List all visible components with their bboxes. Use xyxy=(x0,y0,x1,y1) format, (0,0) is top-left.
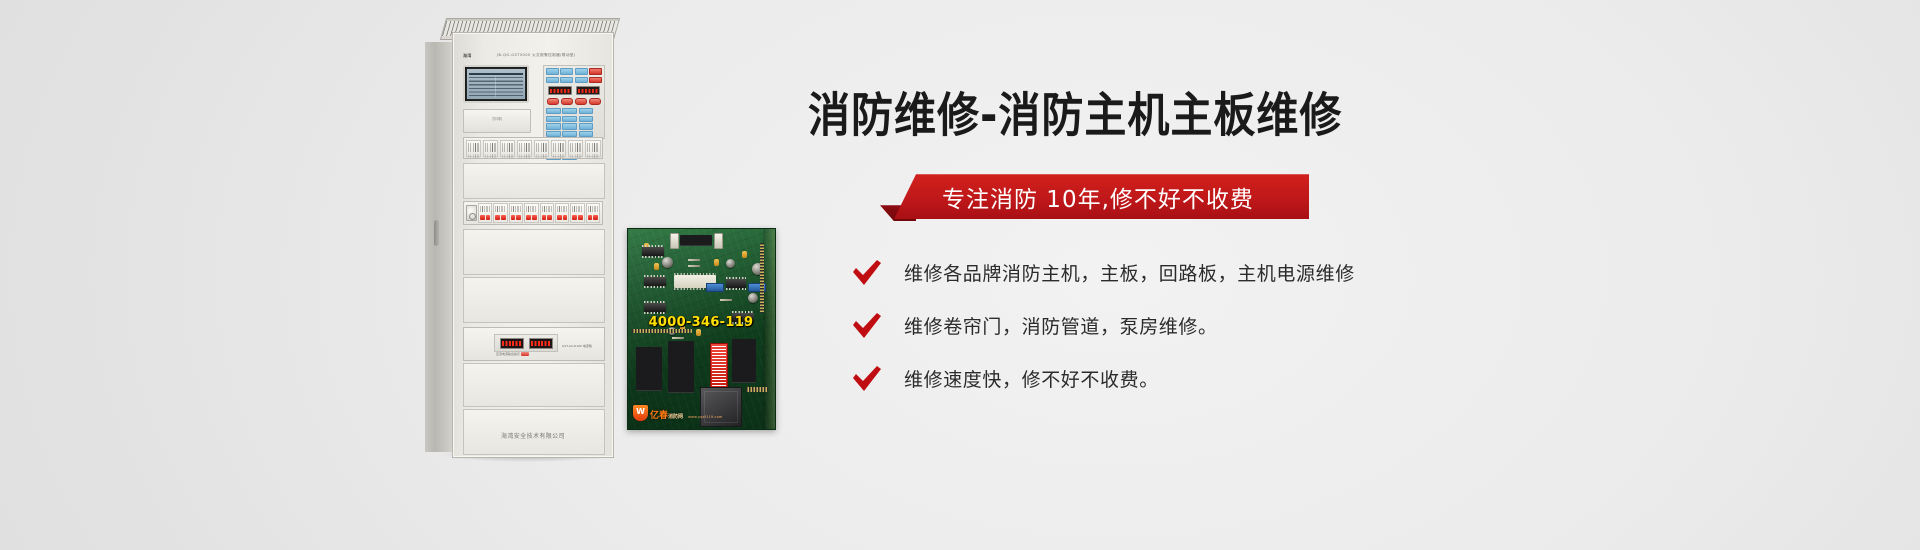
relay-module xyxy=(524,203,538,223)
pcb-pin-header xyxy=(760,243,764,313)
cabinet-printer-slot: 打印机 xyxy=(463,109,531,133)
numeric-key xyxy=(579,108,594,114)
pcb-ic-chip xyxy=(644,303,666,312)
keypad-seven-segment-row xyxy=(548,86,600,95)
power-test-button xyxy=(521,352,529,356)
keypad-key-alarm xyxy=(589,68,602,75)
watermark-logo-text: 亿春消防网 www.yqxf119.com xyxy=(650,405,722,421)
page-title: 消防维修-消防主机主板维修 xyxy=(808,90,1708,142)
list-item: 维修速度快，修不好不收费。 xyxy=(852,365,1708,392)
pcb-capacitor xyxy=(662,257,673,268)
pcb-resistor xyxy=(688,265,700,267)
banner-content: 消防维修-消防主机主板维修 专注消防 10年,修不好不收费 维修各品牌消防主机，… xyxy=(808,90,1708,418)
relay-module xyxy=(509,203,523,223)
cabinet-side-panel xyxy=(425,42,454,452)
list-item: 维修各品牌消防主机，主板，回路板，主机电源维修 xyxy=(852,259,1708,286)
list-item-label: 维修卷帘门，消防管道，泵房维修。 xyxy=(904,312,1218,339)
pcb-ic-chip xyxy=(644,277,666,286)
power-meter-group xyxy=(494,334,558,352)
keypad-key xyxy=(560,68,573,75)
logo-main-text: 亿春 xyxy=(650,411,668,421)
pcb-ic-chip xyxy=(642,247,664,256)
printer-slot-label: 打印机 xyxy=(492,116,502,121)
function-button xyxy=(547,98,559,105)
pcb-film-capacitor xyxy=(654,263,659,270)
check-icon xyxy=(852,260,882,286)
terminal-module xyxy=(483,140,499,157)
hotline-number-overlay: 4000-346-119 xyxy=(634,315,768,330)
pcb-dip-switch-red xyxy=(710,343,728,393)
relay-module xyxy=(540,203,554,223)
keypad-key xyxy=(546,68,559,75)
cabinet-blank-panel xyxy=(463,363,605,407)
ribbon-label: 专注消防 10年,修不好不收费 xyxy=(942,180,1254,214)
keypad-key xyxy=(575,68,588,75)
numeric-key xyxy=(546,116,561,122)
pcb-dip-switch xyxy=(706,283,724,292)
numeric-key xyxy=(579,123,594,129)
lcd-text-rows xyxy=(469,77,523,97)
shield-icon xyxy=(633,405,648,421)
list-item-label: 维修速度快，修不好不收费。 xyxy=(904,365,1159,392)
cabinet-brand-label: 海湾 xyxy=(463,53,472,59)
relay-selector-knob xyxy=(466,205,477,221)
function-button xyxy=(589,98,601,105)
pcb-resistor xyxy=(672,337,684,339)
relay-module xyxy=(586,203,600,223)
promo-ribbon: 专注消防 10年,修不好不收费 xyxy=(894,174,1309,219)
keypad-key xyxy=(560,77,573,84)
pcb-connector xyxy=(714,233,723,249)
cabinet-blank-panel xyxy=(463,229,605,275)
lcd-screen xyxy=(467,69,525,99)
list-item: 维修卷帘门，消防管道，泵房维修。 xyxy=(852,312,1708,339)
ribbon-body: 专注消防 10年,修不好不收费 xyxy=(894,174,1309,219)
keypad-row xyxy=(546,68,602,75)
relay-module xyxy=(493,203,507,223)
cabinet-model-label: JB-QG-GST5000 火灾报警控制器(联动型) xyxy=(497,53,576,58)
power-output-label: 直流电源输出指示 xyxy=(496,352,520,356)
numeric-key xyxy=(546,123,561,129)
terminal-module xyxy=(568,140,584,157)
keypad-function-button-row xyxy=(547,98,601,105)
terminal-module xyxy=(534,140,550,157)
terminal-module xyxy=(517,140,533,157)
pcb-header-block xyxy=(680,235,712,246)
terminal-module xyxy=(551,140,567,157)
check-icon xyxy=(852,366,882,392)
cabinet-keypad xyxy=(543,65,605,139)
cabinet-blank-panel xyxy=(463,163,605,199)
terminal-module xyxy=(466,140,482,157)
pcb-ic-socket xyxy=(732,339,756,383)
pcb-film-capacitor xyxy=(714,259,719,266)
numeric-key xyxy=(562,123,577,129)
pcb-capacitor xyxy=(726,259,735,268)
pcb-pin-header xyxy=(746,387,768,392)
service-list: 维修各品牌消防主机，主板，回路板，主机电源维修 维修卷帘门，消防管道，泵房维修。… xyxy=(852,259,1708,392)
numeric-key xyxy=(562,116,577,122)
logo-url-text: www.yqxf119.com xyxy=(688,415,722,419)
fire-repair-banner: 海湾 JB-QG-GST5000 火灾报警控制器(联动型) xyxy=(0,0,1920,550)
cabinet-lcd-display xyxy=(463,65,529,103)
pcb-film-capacitor xyxy=(696,329,701,336)
power-box-model-label: GST-LD-D160 电源箱 xyxy=(562,344,592,348)
lcd-column-divider xyxy=(495,77,496,97)
current-display xyxy=(529,338,553,349)
logo-suffix-text: 消防网 xyxy=(668,414,683,420)
function-button xyxy=(575,98,587,105)
check-icon xyxy=(852,313,882,339)
function-button xyxy=(561,98,573,105)
terminal-module xyxy=(585,140,601,157)
cabinet-power-supply-panel: 直流电源输出指示 GST-LD-D160 电源箱 xyxy=(463,327,605,361)
pcb-capacitor xyxy=(748,293,758,303)
pcb-ic-socket xyxy=(668,341,694,393)
numeric-key xyxy=(562,108,577,114)
pcb-connector xyxy=(670,233,679,249)
keypad-row xyxy=(546,77,602,84)
cabinet-terminal-module-bank xyxy=(463,137,603,159)
keypad-key xyxy=(575,77,588,84)
pcb-film-capacitor xyxy=(742,251,747,258)
cabinet-front-face: 海湾 JB-QG-GST5000 火灾报警控制器(联动型) xyxy=(452,32,614,458)
numeric-key xyxy=(579,116,594,122)
watermark-logo: 亿春消防网 www.yqxf119.com xyxy=(633,405,722,421)
cabinet-door-latch xyxy=(434,220,439,246)
cabinet-company-label: 海湾安全技术有限公司 xyxy=(453,431,613,440)
pcb-resistor xyxy=(720,299,732,301)
seven-segment-display xyxy=(576,86,600,95)
relay-module xyxy=(555,203,569,223)
pcb-ic-socket xyxy=(636,347,662,391)
keypad-key-alarm xyxy=(589,77,602,84)
pcb-resistor xyxy=(688,259,700,261)
seven-segment-display xyxy=(548,86,572,95)
cabinet-relay-led-bank xyxy=(463,201,603,225)
numeric-key xyxy=(546,108,561,114)
voltage-display xyxy=(500,338,524,349)
terminal-module xyxy=(500,140,516,157)
list-item-label: 维修各品牌消防主机，主板，回路板，主机电源维修 xyxy=(904,259,1355,286)
relay-module xyxy=(570,203,584,223)
fire-panel-mainboard-image: 4000-346-119 亿春消防网 www.yqxf119.com xyxy=(627,228,776,430)
fire-alarm-control-panel-image: 海湾 JB-QG-GST5000 火灾报警控制器(联动型) xyxy=(425,18,625,458)
relay-module xyxy=(478,203,492,223)
pcb-ic-chip xyxy=(726,279,746,288)
cabinet-blank-panel xyxy=(463,277,605,323)
keypad-key xyxy=(546,77,559,84)
